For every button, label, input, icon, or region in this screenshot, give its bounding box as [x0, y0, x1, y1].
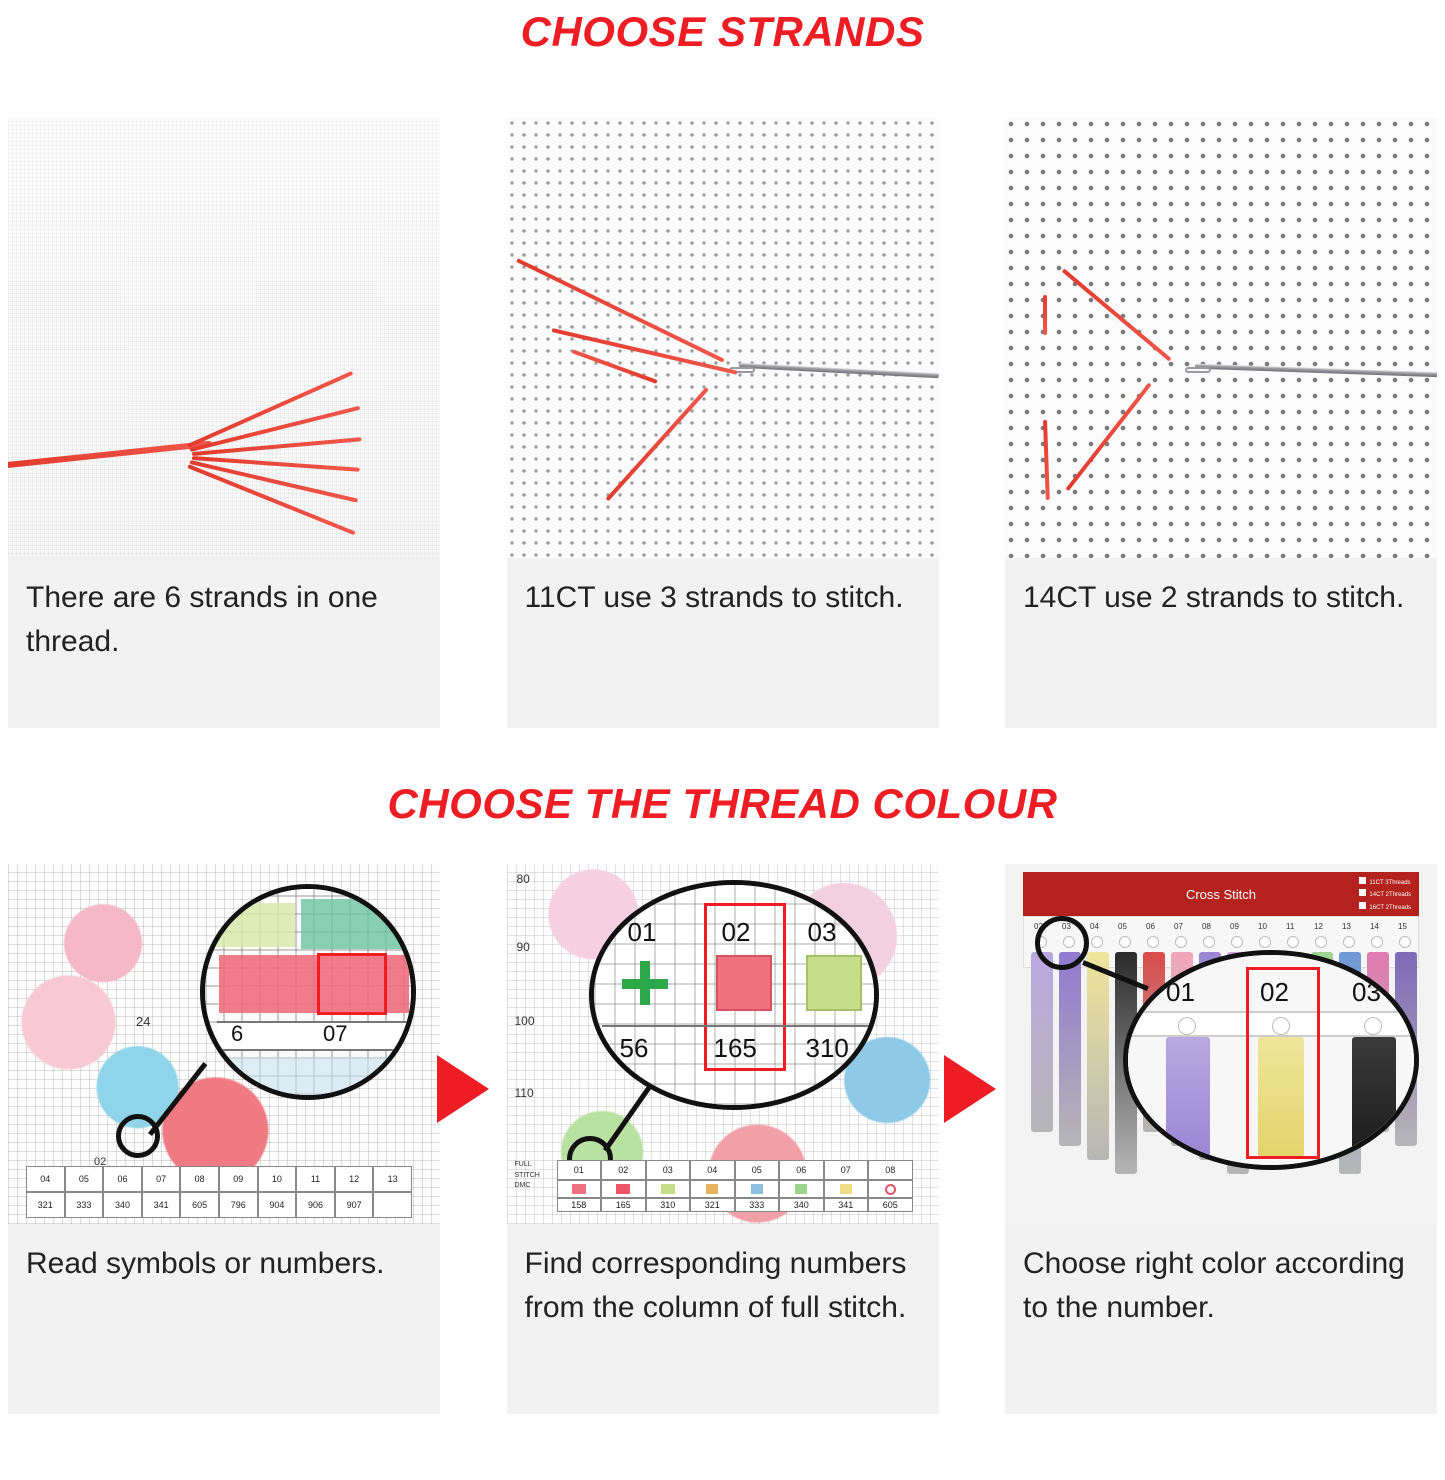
printed-chart: 24 6 07 [8, 864, 440, 1224]
legend-symbol-cell: 02 [601, 1160, 646, 1180]
floss-hole [1203, 936, 1215, 948]
legend-symbol-cell: 09 [219, 1166, 258, 1192]
legend-swatch-cell [601, 1180, 646, 1198]
mag-skein-purple [1166, 1037, 1210, 1157]
legend-number-cell: 321 [26, 1192, 65, 1218]
mag-swatch-lime [806, 955, 862, 1011]
legend-swatch-cell [690, 1180, 735, 1198]
axis-label-100: 100 [515, 1014, 535, 1028]
photo-11ct [507, 118, 939, 558]
photo-chart-numbers: 80 90 100 110 01 02 03 [507, 864, 939, 1224]
floss-number: 04 [1090, 922, 1099, 931]
magnifier-numbers: 01 02 03 56 165 310 [589, 880, 879, 1110]
caption-choose-color: Choose right color according to the numb… [1005, 1224, 1437, 1414]
needle-eye-14ct [1185, 367, 1211, 373]
floss-hole [1315, 936, 1327, 948]
mag-red-highlight-box-3 [1246, 967, 1320, 1159]
arrow-step-2-to-3 [944, 1055, 996, 1123]
floss-number: 12 [1314, 922, 1323, 931]
legend-side-label: FULL [515, 1160, 540, 1171]
card-11ct: 11CT use 3 strands to stitch. [507, 118, 939, 728]
legend-symbol-cell: 01 [557, 1160, 602, 1180]
legend-side-label: STITCH [515, 1171, 540, 1182]
floss-skein [1031, 952, 1053, 1132]
mag-number-left: 6 [231, 1021, 243, 1047]
card-six-strands: There are 6 strands in one thread. [8, 118, 440, 728]
colour-card-row: 24 6 07 [0, 864, 1445, 1414]
floss-hole [1287, 936, 1299, 948]
legend-symbol-cell: 05 [735, 1160, 780, 1180]
floss-number: 10 [1258, 922, 1267, 931]
floss-hole [1091, 936, 1103, 948]
chart-legend-grid: 04 05 06 07 08 09 10 11 12 13 321 333 34… [26, 1166, 412, 1218]
mag-hole [1178, 1017, 1196, 1035]
legend-number-cell: 165 [601, 1198, 646, 1212]
legend-number-cell: 605 [180, 1192, 219, 1218]
mag-bottom-56: 56 [620, 1033, 649, 1064]
legend-symbol-cell: 06 [779, 1160, 824, 1180]
floss-hole [1119, 936, 1131, 948]
legend-symbol-cell: 13 [373, 1166, 412, 1192]
legend-side-label: DMC [515, 1181, 540, 1192]
floss-number: 09 [1230, 922, 1239, 931]
legend-symbol-cell: 04 [690, 1160, 735, 1180]
floss-skein [1059, 952, 1081, 1146]
instruction-sheet: CHOOSE STRANDS There are 6 strands in on… [0, 0, 1445, 1480]
legend-number-cell: 907 [335, 1192, 374, 1218]
legend-number-cell [373, 1192, 412, 1218]
mag-swatch-teal [301, 899, 406, 949]
floss-card-legend-line: 11CT 3Threads [1359, 877, 1411, 889]
chart-legend-grid-2: 01 02 03 04 05 06 07 08 [557, 1160, 913, 1212]
legend-symbol-cell: 03 [646, 1160, 691, 1180]
caption-14ct: 14CT use 2 strands to stitch. [1005, 558, 1437, 728]
legend-number-cell: 340 [779, 1198, 824, 1212]
floss-number: 08 [1202, 922, 1211, 931]
mag-red-highlight-box [317, 953, 387, 1015]
floss-hole [1399, 936, 1411, 948]
mag-skein-black [1352, 1037, 1396, 1157]
mag-floss-03: 03 [1352, 977, 1381, 1008]
floss-number: 06 [1146, 922, 1155, 931]
card-14ct: 14CT use 2 strands to stitch. [1005, 118, 1437, 728]
legend-swatch-cell [779, 1180, 824, 1198]
legend-side-labels: FULL STITCH DMC [515, 1160, 540, 1192]
magnifier-floss: 01 02 03 [1123, 950, 1419, 1170]
axis-label-110: 110 [515, 1086, 534, 1100]
floss-hole [1343, 936, 1355, 948]
magnifier-target-circle-3 [1035, 916, 1089, 970]
axis-label-80: 80 [517, 872, 530, 886]
mag-rule [602, 1025, 874, 1027]
photo-six-strands [8, 118, 440, 558]
card-find-numbers: 80 90 100 110 01 02 03 [507, 864, 939, 1414]
floss-card-legend-line: 14CT 2Threads [1359, 889, 1411, 901]
floss-number: 13 [1342, 922, 1351, 931]
mag-swatch-blue [217, 1057, 407, 1097]
legend-number-cell: 605 [868, 1198, 913, 1212]
card-read-symbols: 24 6 07 [8, 864, 440, 1414]
legend-number-cell: 341 [824, 1198, 869, 1212]
legend-swatch-cell [824, 1180, 869, 1198]
floss-card-legend-line: 16CT 2Threads [1359, 902, 1411, 914]
legend-symbol-cell: 08 [868, 1160, 913, 1180]
legend-number-cell: 341 [142, 1192, 181, 1218]
plain-fabric-texture [8, 118, 440, 558]
legend-number-cell: 333 [735, 1198, 780, 1212]
floss-card-title-bar: Cross Stitch 11CT 3Threads 14CT 2Threads… [1023, 872, 1419, 916]
legend-swatch-cell [557, 1180, 602, 1198]
mag-top-01: 01 [628, 917, 657, 948]
mag-bottom-165: 165 [714, 1033, 757, 1064]
photo-chart-symbols: 24 6 07 [8, 864, 440, 1224]
legend-symbol-cell: 08 [180, 1166, 219, 1192]
card-choose-color: Cross Stitch 11CT 3Threads 14CT 2Threads… [1005, 864, 1437, 1414]
floss-card-title: Cross Stitch [1186, 887, 1256, 902]
caption-six-strands: There are 6 strands in one thread. [8, 558, 440, 728]
photo-14ct [1005, 118, 1437, 558]
floss-number: 05 [1118, 922, 1127, 931]
mag-floss-01: 01 [1166, 977, 1195, 1008]
legend-swatch-cell [735, 1180, 780, 1198]
floss-number: 07 [1174, 922, 1183, 931]
floss-hole [1259, 936, 1271, 948]
mag-legend-strip [217, 1021, 407, 1051]
legend-swatch-cell [868, 1180, 913, 1198]
floss-skein [1087, 952, 1109, 1160]
strand-bend-top [1043, 295, 1047, 335]
printed-chart-2: 80 90 100 110 01 02 03 [507, 864, 939, 1224]
legend-symbol-cell: 06 [103, 1166, 142, 1192]
floss-number: 14 [1370, 922, 1379, 931]
legend-number-cell: 321 [690, 1198, 735, 1212]
legend-number-cell: 904 [258, 1192, 297, 1218]
aida-14ct-texture [1005, 118, 1437, 558]
mag-swatch-cross [618, 957, 674, 1009]
legend-number-cell: 796 [219, 1192, 258, 1218]
chart-row-number: 24 [136, 1014, 150, 1029]
arrow-step-1-to-2 [437, 1055, 489, 1123]
mag-number-right: 07 [323, 1021, 347, 1047]
magnifier-target-circle [116, 1114, 160, 1158]
mag-top-03: 03 [808, 917, 837, 948]
legend-number-cell: 340 [103, 1192, 142, 1218]
magnifier-symbols: 6 07 [200, 884, 416, 1100]
legend-swatch-cell [646, 1180, 691, 1198]
heading-choose-thread-colour: CHOOSE THE THREAD COLOUR [0, 770, 1445, 828]
floss-hole [1231, 936, 1243, 948]
caption-read-symbols: Read symbols or numbers. [8, 1224, 440, 1414]
legend-number-cell: 333 [65, 1192, 104, 1218]
legend-symbol-cell: 04 [26, 1166, 65, 1192]
legend-symbol-cell: 11 [296, 1166, 335, 1192]
legend-symbol-cell: 07 [824, 1160, 869, 1180]
mag-hole [1364, 1017, 1382, 1035]
axis-label-90: 90 [517, 940, 530, 954]
floss-number: 11 [1286, 922, 1294, 931]
legend-symbol-cell: 10 [258, 1166, 297, 1192]
legend-number-cell: 906 [296, 1192, 335, 1218]
floss-hole [1147, 936, 1159, 948]
mag-bottom-310: 310 [806, 1033, 849, 1064]
floss-organizer: Cross Stitch 11CT 3Threads 14CT 2Threads… [1005, 864, 1437, 1224]
caption-find-numbers: Find corresponding numbers from the colu… [507, 1224, 939, 1414]
floss-hole [1175, 936, 1187, 948]
legend-symbol-cell: 07 [142, 1166, 181, 1192]
heading-choose-strands: CHOOSE STRANDS [0, 0, 1445, 56]
caption-11ct: 11CT use 3 strands to stitch. [507, 558, 939, 728]
strands-card-row: There are 6 strands in one thread. 11CT … [0, 118, 1445, 728]
mag-swatch-green [215, 903, 295, 947]
legend-number-cell: 310 [646, 1198, 691, 1212]
floss-hole [1371, 936, 1383, 948]
aida-11ct-texture [507, 118, 939, 558]
photo-floss-card: Cross Stitch 11CT 3Threads 14CT 2Threads… [1005, 864, 1437, 1224]
legend-number-cell: 158 [557, 1198, 602, 1212]
floss-number: 15 [1398, 922, 1407, 931]
legend-symbol-cell: 12 [335, 1166, 374, 1192]
legend-symbol-cell: 05 [65, 1166, 104, 1192]
